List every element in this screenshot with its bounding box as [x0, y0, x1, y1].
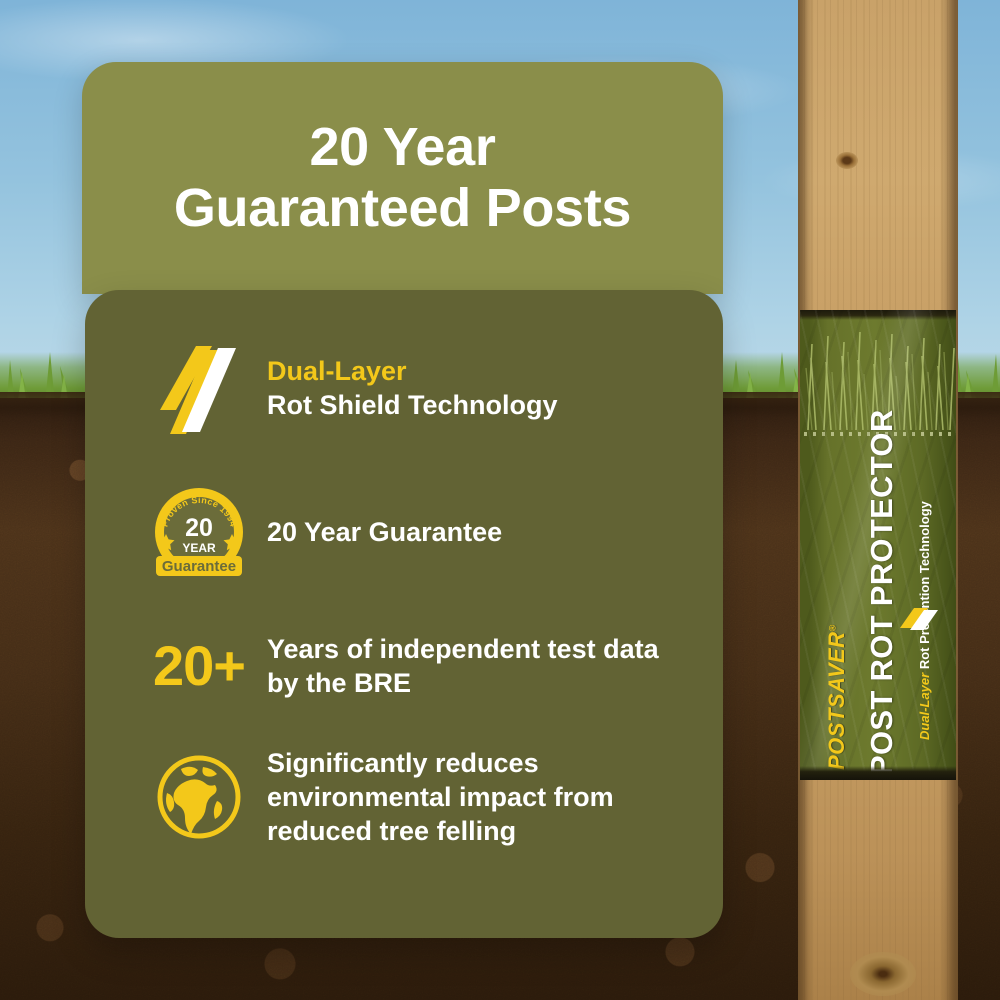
page-title: 20 Year Guaranteed Posts: [146, 117, 659, 239]
sleeve-bottom-seal: [800, 766, 956, 780]
feature-text: Dual-Layer Rot Shield Technology: [267, 354, 558, 422]
feature-environment: Significantly reduces environmental impa…: [131, 746, 689, 848]
globe-icon: [151, 749, 247, 845]
fence-post: POSTSAVER® POST ROT PROTECTOR Dual-Layer…: [798, 0, 958, 1000]
feature-icon-slot: [131, 749, 267, 845]
badge-ribbon-text: Guarantee: [162, 558, 236, 575]
feature-line: 20 Year Guarantee: [267, 517, 502, 547]
feature-text: 20 Year Guarantee: [267, 515, 502, 549]
feature-dual-layer: Dual-Layer Rot Shield Technology: [131, 340, 689, 436]
feature-icon-slot: [131, 340, 267, 436]
feature-line: Significantly reduces environmental impa…: [267, 748, 614, 846]
badge-number: 20: [185, 514, 213, 542]
feature-line: Rot Shield Technology: [267, 390, 558, 420]
feature-icon-slot: Proven Since 1994 20 YEAR Guarantee: [131, 480, 267, 584]
post-knot-upper: [836, 152, 858, 169]
sleeve-brand-name: POSTSAVER®: [826, 624, 848, 770]
post-knot-lower: [850, 952, 916, 996]
twenty-plus-stat: 20+: [153, 638, 245, 694]
dual-layer-parallelogram-icon: [156, 340, 242, 436]
sleeve-product-name: POST ROT PROTECTOR: [866, 409, 897, 776]
title-line-1: 20 Year: [309, 117, 495, 177]
infographic-stage: POSTSAVER® POST ROT PROTECTOR Dual-Layer…: [0, 0, 1000, 1000]
dual-layer-parallelogram-icon: [896, 602, 942, 636]
features-panel: Dual-Layer Rot Shield Technology Proven …: [85, 290, 723, 938]
feature-accent-line: Dual-Layer: [267, 354, 558, 388]
feature-test-data: 20+ Years of independent test data by th…: [131, 632, 689, 700]
feature-guarantee: Proven Since 1994 20 YEAR Guarantee 20 Y…: [131, 480, 689, 584]
header-panel: 20 Year Guaranteed Posts: [82, 62, 723, 294]
feature-line: Years of independent test data by the BR…: [267, 634, 659, 698]
feature-text: Significantly reduces environmental impa…: [267, 746, 689, 848]
postsaver-sleeve: POSTSAVER® POST ROT PROTECTOR Dual-Layer…: [800, 310, 956, 780]
title-line-2: Guaranteed Posts: [174, 178, 631, 238]
guarantee-badge-icon: Proven Since 1994 20 YEAR Guarantee: [144, 480, 254, 584]
feature-icon-slot: 20+: [131, 638, 267, 694]
badge-unit: YEAR: [182, 541, 216, 555]
feature-text: Years of independent test data by the BR…: [267, 632, 689, 700]
